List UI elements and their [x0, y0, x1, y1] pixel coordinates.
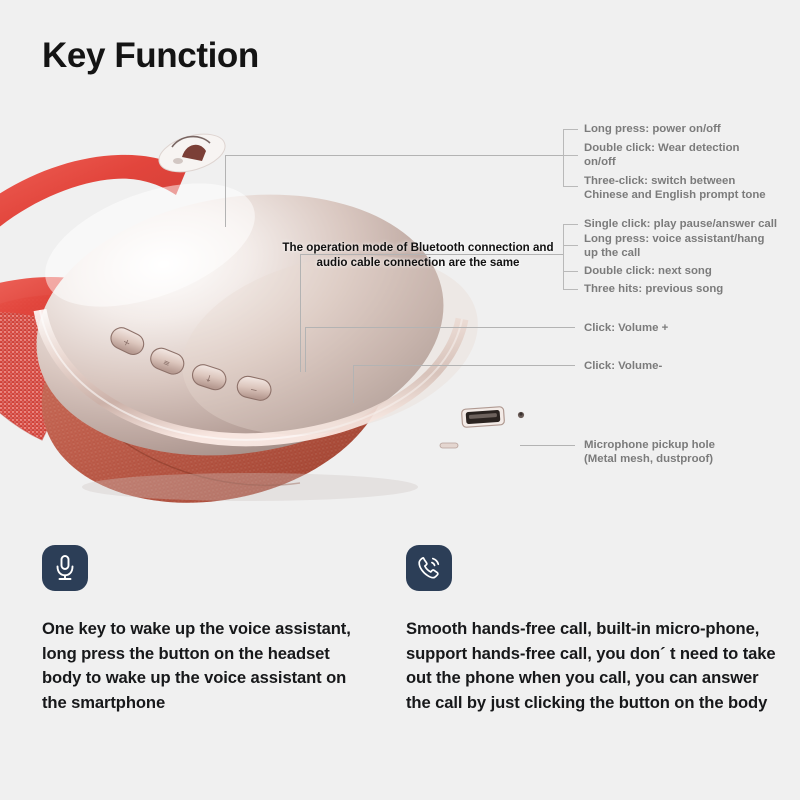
annotation-microphone: Microphone pickup hole (Metal mesh, dust… [584, 438, 789, 466]
annotation-multifunction-1: Single click: play pause/answer call [584, 217, 799, 231]
annotation-multifunction-4: Three hits: previous song [584, 282, 789, 296]
leader-multifunction-vertical [300, 254, 301, 372]
microphone-icon [52, 554, 78, 582]
bracket-multifunction-stub-2 [563, 245, 578, 246]
annotation-multifunction-2: Long press: voice assistant/hang up the … [584, 232, 794, 260]
annotation-multifunction-3: Double click: next song [584, 264, 789, 278]
page-title: Key Function [42, 36, 259, 76]
phone-call-icon [415, 554, 443, 582]
leader-volume-up-vertical [305, 327, 306, 372]
leader-volume-up-horizontal [305, 327, 575, 328]
annotation-volume-up: Click: Volume + [584, 321, 784, 335]
feature-hands-free-call: Smooth hands-free call, built-in micro-p… [406, 545, 786, 715]
leader-crown-horizontal [225, 155, 563, 156]
bracket-multifunction-stub-1 [563, 224, 578, 225]
leader-crown-vertical [225, 155, 226, 227]
bracket-multifunction-stub-3 [563, 271, 578, 272]
bracket-crown-stub-2 [563, 155, 578, 156]
bracket-crown-spine [563, 129, 564, 186]
feature-voice-assistant: One key to wake up the voice assistant, … [42, 545, 372, 715]
bracket-crown-stub-3 [563, 186, 578, 187]
annotation-crown-1: Long press: power on/off [584, 122, 789, 136]
overlay-note: The operation mode of Bluetooth connecti… [278, 241, 558, 270]
leader-volume-down-horizontal [353, 365, 575, 366]
headphone-illustration: + ≡ ↓ − [0, 95, 570, 515]
annotation-crown-3: Three-click: switch between Chinese and … [584, 174, 799, 202]
bracket-crown-stub-1 [563, 129, 578, 130]
micro-usb-port [461, 407, 504, 428]
phone-call-icon-tile [406, 545, 452, 591]
annotation-crown-2: Double click: Wear detection on/off [584, 141, 789, 169]
feature-hands-free-call-text: Smooth hands-free call, built-in micro-p… [406, 617, 786, 715]
bracket-multifunction-spine [563, 224, 564, 289]
feature-voice-assistant-text: One key to wake up the voice assistant, … [42, 617, 372, 715]
leader-microphone-horizontal [520, 445, 575, 446]
product-image: + ≡ ↓ − [0, 95, 570, 515]
leader-volume-down-vertical [353, 365, 354, 403]
leader-multifunction-horizontal [300, 254, 563, 255]
bracket-multifunction-stub-4 [563, 289, 578, 290]
infographic-root: Key Function [0, 0, 800, 800]
annotation-volume-down: Click: Volume- [584, 359, 784, 373]
microphone-icon-tile [42, 545, 88, 591]
